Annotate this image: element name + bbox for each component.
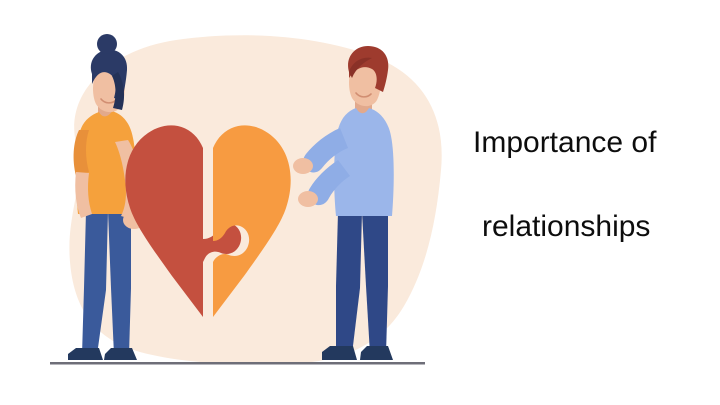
slide-canvas: Importance of relationships: [0, 0, 720, 405]
title-line-2: relationships: [482, 212, 720, 242]
woman-shoe-left: [68, 348, 103, 360]
woman-hair-bun: [97, 34, 117, 54]
woman-shoe-right: [104, 348, 137, 360]
title-line-1: Importance of: [473, 128, 720, 158]
illustration-couple-holding-heart-puzzle: [0, 0, 470, 405]
page-title: Importance of relationships: [470, 128, 720, 242]
man-shoe-left: [322, 346, 357, 360]
man-shoe-right: [360, 346, 393, 360]
man-sweater: [334, 108, 394, 216]
ground-line: [50, 362, 425, 365]
man-hand-upper: [293, 158, 313, 174]
man-hand-lower: [298, 191, 318, 207]
